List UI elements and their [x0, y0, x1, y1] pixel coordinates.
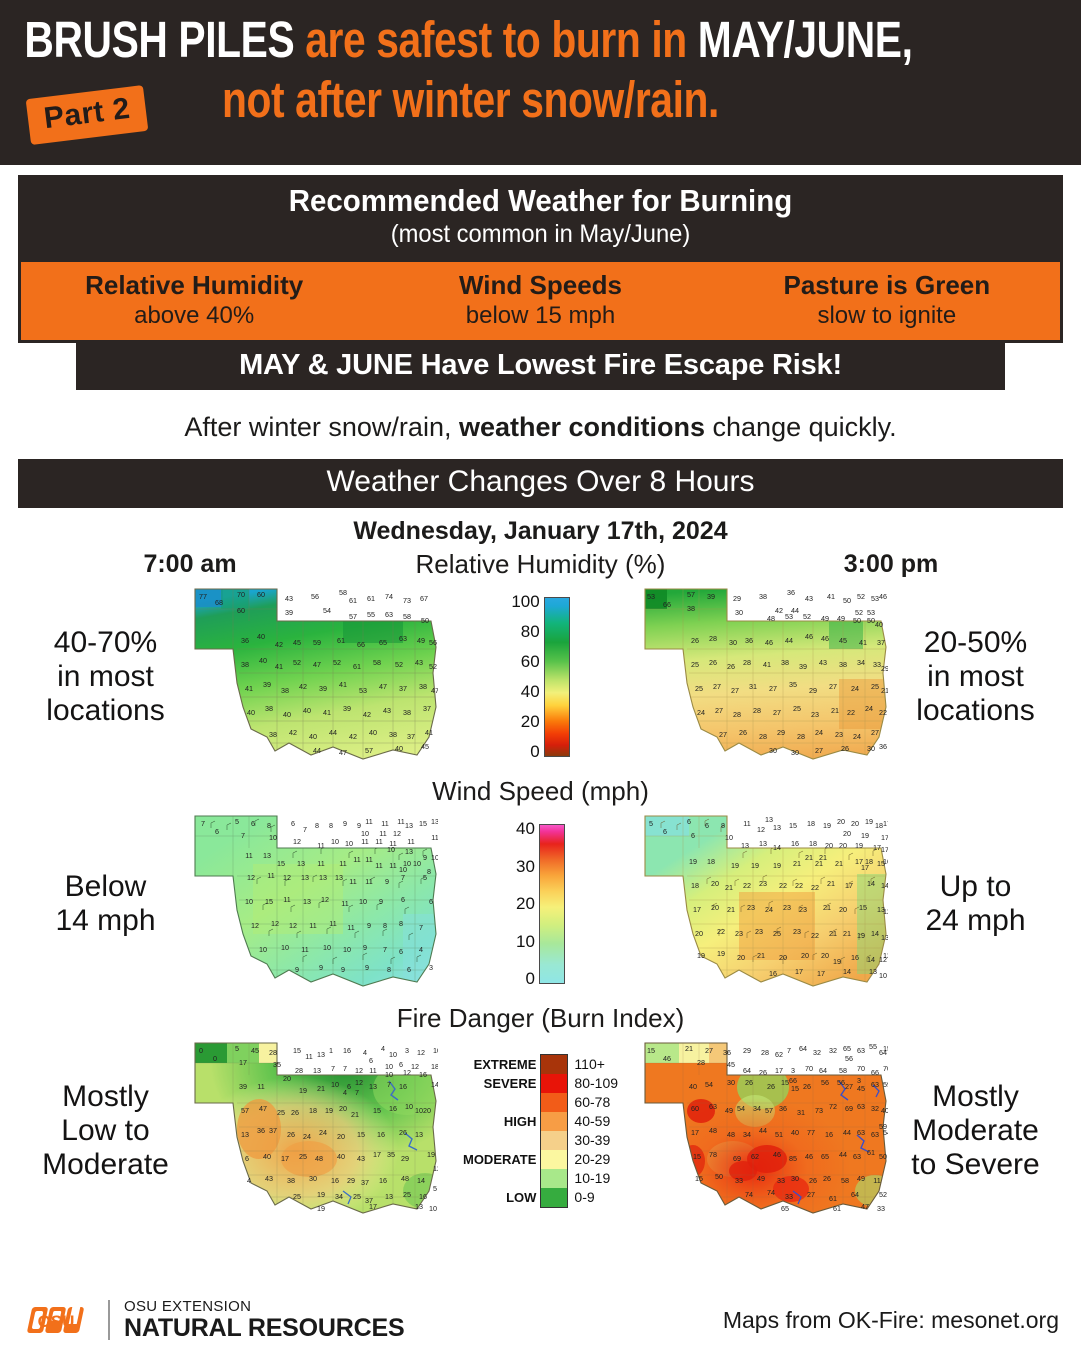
fire-swatch-60-78	[541, 1093, 567, 1112]
svg-text:7: 7	[401, 873, 405, 882]
svg-text:39: 39	[239, 1082, 247, 1091]
svg-text:64: 64	[799, 1044, 807, 1053]
svg-text:11: 11	[347, 923, 354, 932]
svg-text:62: 62	[751, 1152, 759, 1161]
svg-text:16: 16	[791, 839, 799, 848]
svg-text:61: 61	[353, 662, 361, 671]
svg-text:78: 78	[709, 1150, 717, 1159]
svg-text:29: 29	[743, 1046, 751, 1055]
label-r1: Mostly	[883, 1080, 1068, 1114]
criteria-heading: Relative Humidity	[21, 269, 367, 301]
svg-text:22: 22	[717, 927, 725, 936]
svg-text:28: 28	[759, 732, 767, 741]
svg-text:37: 37	[399, 684, 407, 693]
svg-text:10: 10	[345, 839, 353, 848]
svg-text:32: 32	[871, 1104, 879, 1113]
svg-text:28: 28	[269, 1048, 277, 1057]
svg-text:54: 54	[737, 1104, 745, 1113]
svg-text:20: 20	[801, 951, 809, 960]
fire-range-10-19: 10-19	[574, 1169, 618, 1188]
svg-text:23: 23	[759, 879, 767, 888]
fire-cat-moderate: MODERATE	[463, 1150, 536, 1169]
svg-text:11: 11	[301, 945, 308, 954]
svg-text:7: 7	[303, 825, 307, 834]
svg-text:11: 11	[283, 895, 290, 904]
svg-text:41: 41	[339, 680, 347, 689]
svg-text:12: 12	[433, 1164, 438, 1173]
svg-text:11: 11	[353, 855, 360, 864]
wind-map-afternoon-cell: 566 668 101112 131315 181920 201918 1720…	[643, 810, 1073, 998]
headline-brush-piles: BRUSH PILES	[24, 11, 305, 68]
svg-text:33: 33	[877, 1204, 885, 1213]
svg-text:47: 47	[259, 1104, 267, 1113]
svg-text:28: 28	[709, 634, 717, 643]
svg-text:13: 13	[319, 873, 327, 882]
svg-text:17: 17	[239, 1058, 247, 1067]
label-r1: Up to	[883, 870, 1068, 904]
svg-text:16: 16	[379, 1176, 387, 1185]
svg-text:24: 24	[865, 704, 873, 713]
svg-text:20: 20	[695, 929, 703, 938]
svg-text:4: 4	[381, 1044, 385, 1053]
svg-text:20: 20	[851, 819, 859, 828]
lowest-risk-banner: MAY & JUNE Have Lowest Fire Escape Risk!	[76, 343, 1005, 390]
label-l1: Below	[13, 870, 198, 904]
svg-text:10: 10	[359, 897, 367, 906]
weather-changes-bar: Weather Changes Over 8 Hours	[18, 459, 1063, 508]
fire-cat-blank-2	[463, 1131, 536, 1150]
svg-text:40: 40	[369, 728, 377, 737]
svg-text:11: 11	[245, 851, 252, 860]
criteria-value: slow to ignite	[714, 301, 1060, 331]
svg-text:61: 61	[349, 596, 357, 605]
svg-text:13: 13	[317, 1050, 325, 1059]
label-l1: 40-70%	[13, 626, 198, 660]
svg-text:19: 19	[689, 857, 697, 866]
svg-text:69: 69	[733, 1154, 741, 1163]
svg-text:58: 58	[839, 1066, 847, 1075]
svg-text:35: 35	[789, 680, 797, 689]
tick-100: 100	[511, 597, 539, 607]
svg-text:13: 13	[241, 1130, 249, 1139]
svg-text:8: 8	[315, 821, 319, 830]
svg-text:17: 17	[881, 833, 888, 842]
svg-text:11: 11	[365, 817, 372, 826]
svg-text:9: 9	[343, 819, 347, 828]
svg-text:9: 9	[365, 963, 369, 972]
svg-text:11: 11	[397, 817, 404, 826]
svg-text:46: 46	[879, 592, 887, 601]
svg-text:68: 68	[215, 598, 223, 607]
svg-text:26: 26	[823, 1174, 831, 1183]
svg-text:63: 63	[857, 1128, 865, 1137]
svg-text:30: 30	[727, 1078, 735, 1087]
fire-swatch-20-29	[541, 1150, 567, 1169]
fire-legend-ranges: 110+ 80-109 60-78 40-59 30-39 20-29 10-1…	[568, 1055, 618, 1207]
svg-text:22: 22	[811, 931, 819, 940]
footer-divider	[108, 1300, 110, 1340]
svg-text:16: 16	[331, 1176, 339, 1185]
svg-text:27: 27	[715, 706, 723, 715]
svg-text:15: 15	[859, 903, 867, 912]
svg-text:38: 38	[241, 660, 249, 669]
svg-text:3: 3	[405, 1046, 409, 1055]
svg-text:21: 21	[827, 879, 835, 888]
time-label-morning: 7:00 am	[0, 550, 380, 579]
svg-text:8: 8	[329, 821, 333, 830]
svg-text:19: 19	[751, 861, 759, 870]
svg-text:61: 61	[337, 636, 345, 645]
svg-text:19: 19	[427, 1150, 435, 1159]
criteria-value: above 40%	[21, 301, 367, 331]
svg-text:13: 13	[335, 873, 343, 882]
svg-text:31: 31	[797, 1108, 805, 1117]
svg-text:23: 23	[799, 905, 807, 914]
svg-text:16: 16	[769, 969, 777, 978]
svg-text:21: 21	[351, 1110, 359, 1119]
svg-text:21: 21	[829, 929, 837, 938]
svg-text:29: 29	[777, 728, 785, 737]
svg-text:45: 45	[293, 638, 301, 647]
svg-text:57: 57	[687, 590, 695, 599]
svg-text:50: 50	[853, 616, 861, 625]
svg-text:22: 22	[847, 708, 855, 717]
svg-text:15: 15	[791, 1084, 799, 1093]
svg-text:7: 7	[201, 819, 205, 828]
svg-text:19: 19	[773, 861, 781, 870]
svg-text:26: 26	[841, 744, 849, 753]
svg-text:21: 21	[815, 859, 823, 868]
svg-text:20: 20	[711, 879, 719, 888]
svg-text:23: 23	[735, 929, 743, 938]
transition-statement: After winter snow/rain, weather conditio…	[0, 390, 1081, 459]
svg-text:6: 6	[245, 1154, 249, 1163]
svg-text:56: 56	[837, 1078, 845, 1087]
wind-morning-label: Below 14 mph	[13, 870, 198, 938]
svg-text:18: 18	[691, 881, 699, 890]
fire-swatch-110plus	[541, 1055, 567, 1074]
svg-text:34: 34	[753, 1104, 761, 1113]
svg-text:19: 19	[731, 861, 739, 870]
svg-text:11: 11	[339, 859, 346, 868]
svg-text:8: 8	[383, 921, 387, 930]
svg-text:13: 13	[385, 1192, 393, 1201]
svg-text:15: 15	[293, 1046, 301, 1055]
svg-text:15: 15	[781, 1078, 789, 1087]
svg-text:14: 14	[417, 1176, 425, 1185]
tick-40: 40	[516, 824, 535, 834]
svg-text:7: 7	[331, 1064, 335, 1073]
svg-text:15: 15	[265, 897, 273, 906]
svg-text:39: 39	[707, 592, 715, 601]
svg-text:66: 66	[871, 1068, 879, 1077]
svg-text:17: 17	[873, 843, 881, 852]
svg-text:25: 25	[293, 1192, 301, 1201]
svg-text:11: 11	[305, 1052, 312, 1061]
svg-text:64: 64	[743, 1066, 751, 1075]
fire-danger-legend: EXTREME SEVERE HIGH MODERATE LOW	[438, 1054, 643, 1208]
humidity-colorbar-ticks: 100 80 60 40 20 0	[511, 597, 543, 757]
svg-text:15: 15	[277, 859, 285, 868]
wind-colorbar-legend: 40 30 20 10 0	[438, 824, 643, 984]
svg-text:10: 10	[405, 1102, 413, 1111]
humidity-colorbar-gradient	[544, 597, 570, 757]
svg-text:12: 12	[757, 825, 765, 834]
svg-text:39: 39	[799, 662, 807, 671]
svg-text:19: 19	[317, 1190, 325, 1199]
svg-text:11: 11	[431, 833, 438, 842]
svg-text:7: 7	[343, 1064, 347, 1073]
svg-text:27: 27	[829, 682, 837, 691]
svg-text:46: 46	[821, 634, 829, 643]
svg-text:12: 12	[411, 1062, 419, 1071]
svg-text:49: 49	[417, 636, 425, 645]
svg-text:10: 10	[725, 833, 733, 842]
variable-title-humidity: Relative Humidity (%)	[380, 549, 701, 580]
fire-map-afternoon-cell: 154621 272836 452928 62764 323265 566355…	[643, 1037, 1073, 1225]
svg-text:36: 36	[257, 1126, 265, 1135]
svg-text:10: 10	[879, 971, 887, 980]
svg-text:11: 11	[369, 1066, 376, 1075]
svg-text:9: 9	[341, 965, 345, 974]
svg-text:6: 6	[429, 897, 433, 906]
observation-date: Wednesday, January 17th, 2024	[0, 508, 1081, 549]
svg-text:16: 16	[825, 1130, 833, 1139]
label-r3: locations	[883, 694, 1068, 728]
svg-text:43: 43	[265, 1174, 273, 1183]
criteria-relative-humidity: Relative Humidity above 40%	[21, 269, 367, 331]
svg-text:20: 20	[423, 1106, 431, 1115]
fire-legend-swatches	[540, 1054, 568, 1208]
svg-text:50: 50	[715, 1172, 723, 1181]
svg-text:10: 10	[415, 1106, 423, 1115]
svg-text:25: 25	[353, 1192, 361, 1201]
svg-text:26: 26	[809, 1176, 817, 1185]
fire-swatch-80-109	[541, 1074, 567, 1093]
svg-text:26: 26	[399, 1128, 407, 1137]
criteria-heading: Pasture is Green	[714, 269, 1060, 301]
svg-text:24: 24	[853, 732, 861, 741]
svg-text:60: 60	[237, 606, 245, 615]
fire-swatch-10-19	[541, 1169, 567, 1188]
svg-text:19: 19	[717, 949, 725, 958]
fire-legend-categories: EXTREME SEVERE HIGH MODERATE LOW	[463, 1055, 540, 1207]
svg-text:11: 11	[309, 921, 316, 930]
fire-range-60-78: 60-78	[574, 1093, 618, 1112]
svg-text:38: 38	[839, 660, 847, 669]
svg-text:25: 25	[277, 1108, 285, 1117]
svg-text:6: 6	[691, 831, 695, 840]
svg-text:60: 60	[691, 1104, 699, 1113]
oklahoma-map-humidity-afternoon: 536657 383929 303836 424443 415052 53525…	[643, 587, 888, 765]
svg-text:27: 27	[871, 728, 879, 737]
svg-text:27: 27	[731, 686, 739, 695]
label-r2: in most	[883, 660, 1068, 694]
svg-text:25: 25	[403, 1190, 411, 1199]
svg-text:40: 40	[283, 710, 291, 719]
svg-text:25: 25	[691, 660, 699, 669]
svg-text:61: 61	[833, 1204, 841, 1213]
svg-text:38: 38	[281, 686, 289, 695]
svg-text:13: 13	[415, 1202, 423, 1211]
svg-text:40: 40	[395, 744, 403, 753]
svg-text:32: 32	[829, 1046, 837, 1055]
svg-text:11: 11	[375, 861, 382, 870]
svg-text:17: 17	[693, 905, 701, 914]
svg-text:18: 18	[875, 821, 883, 830]
svg-text:9: 9	[423, 853, 427, 862]
svg-text:13: 13	[405, 847, 413, 856]
svg-text:29: 29	[733, 594, 741, 603]
label-r2: Moderate	[883, 1114, 1068, 1148]
svg-text:12: 12	[293, 837, 301, 846]
svg-text:11: 11	[341, 899, 348, 908]
svg-text:17: 17	[883, 819, 888, 828]
svg-text:20: 20	[825, 841, 833, 850]
svg-text:9: 9	[379, 897, 383, 906]
svg-text:12: 12	[403, 1068, 411, 1077]
svg-text:19: 19	[855, 841, 863, 850]
svg-text:50: 50	[843, 596, 851, 605]
svg-text:16: 16	[377, 1130, 385, 1139]
svg-text:49: 49	[725, 1106, 733, 1115]
svg-text:27: 27	[807, 1190, 815, 1199]
svg-text:64: 64	[819, 1066, 827, 1075]
svg-text:46: 46	[663, 1054, 671, 1063]
svg-text:50: 50	[421, 616, 429, 625]
humidity-map-row: 40-70% in most locations	[0, 582, 1081, 772]
svg-text:74: 74	[767, 1188, 775, 1197]
svg-text:21: 21	[793, 859, 801, 868]
svg-text:42: 42	[349, 732, 357, 741]
svg-text:15: 15	[357, 1130, 365, 1139]
svg-text:10: 10	[281, 943, 289, 952]
label-l3: locations	[13, 694, 198, 728]
svg-text:13: 13	[303, 897, 311, 906]
svg-text:38: 38	[419, 682, 427, 691]
svg-text:44: 44	[839, 1150, 847, 1159]
svg-text:30: 30	[769, 746, 777, 755]
svg-text:28: 28	[761, 1048, 769, 1057]
svg-text:37: 37	[423, 704, 431, 713]
svg-text:12: 12	[355, 1066, 363, 1075]
svg-text:15: 15	[419, 819, 427, 828]
svg-text:70: 70	[237, 590, 245, 599]
criteria-pasture-green: Pasture is Green slow to ignite	[714, 269, 1060, 331]
row1-time-headers: 7:00 am Relative Humidity (%) 3:00 pm	[0, 549, 1081, 582]
svg-text:39: 39	[343, 704, 351, 713]
svg-text:27: 27	[719, 730, 727, 739]
svg-text:20: 20	[821, 951, 829, 960]
svg-text:8: 8	[427, 867, 431, 876]
svg-text:48: 48	[709, 1126, 717, 1135]
svg-text:11: 11	[873, 1176, 880, 1185]
svg-text:8: 8	[267, 821, 271, 830]
svg-text:57: 57	[349, 612, 357, 621]
svg-text:16: 16	[883, 857, 888, 866]
criteria-heading: Wind Speeds	[367, 269, 713, 301]
svg-text:22: 22	[811, 883, 819, 892]
svg-text:29: 29	[809, 686, 817, 695]
svg-text:48: 48	[727, 1130, 735, 1139]
svg-text:34: 34	[857, 658, 865, 667]
svg-text:23: 23	[755, 927, 763, 936]
svg-text:20: 20	[837, 817, 845, 826]
svg-text:11: 11	[317, 841, 324, 850]
svg-text:37: 37	[361, 1178, 369, 1187]
svg-text:14: 14	[843, 967, 851, 976]
svg-text:0: 0	[213, 1054, 217, 1063]
svg-text:7: 7	[387, 1080, 391, 1089]
svg-text:6: 6	[291, 819, 295, 828]
svg-text:22: 22	[743, 881, 751, 890]
svg-text:47: 47	[431, 686, 438, 695]
svg-text:47: 47	[861, 1202, 869, 1211]
fire-afternoon-label: Mostly Moderate to Severe	[883, 1080, 1068, 1182]
svg-text:29: 29	[401, 1154, 409, 1163]
svg-text:42: 42	[363, 710, 371, 719]
svg-text:16: 16	[851, 953, 859, 962]
svg-text:27: 27	[773, 708, 781, 717]
svg-text:33: 33	[785, 1192, 793, 1201]
criteria-value: below 15 mph	[367, 301, 713, 331]
svg-text:9: 9	[319, 963, 323, 972]
svg-text:36: 36	[745, 636, 753, 645]
tick-80: 80	[521, 627, 540, 637]
svg-text:63: 63	[399, 634, 407, 643]
svg-text:26: 26	[759, 1068, 767, 1077]
svg-text:6: 6	[663, 827, 667, 836]
svg-text:27: 27	[769, 684, 777, 693]
svg-text:21: 21	[727, 905, 735, 914]
svg-text:25: 25	[695, 684, 703, 693]
svg-text:5: 5	[649, 819, 653, 828]
svg-text:13: 13	[297, 859, 305, 868]
svg-text:13: 13	[765, 815, 773, 824]
svg-text:25: 25	[773, 929, 781, 938]
svg-text:10: 10	[413, 859, 421, 868]
svg-text:67: 67	[420, 594, 428, 603]
label-r3: to Severe	[883, 1148, 1068, 1182]
svg-text:41: 41	[827, 592, 835, 601]
svg-text:43: 43	[383, 706, 391, 715]
svg-text:11: 11	[375, 837, 382, 846]
svg-text:4: 4	[363, 1048, 367, 1057]
svg-text:52: 52	[879, 1190, 887, 1199]
svg-text:6: 6	[369, 1056, 373, 1065]
svg-text:13: 13	[773, 823, 781, 832]
svg-text:12: 12	[393, 829, 401, 838]
svg-text:14: 14	[431, 1080, 438, 1089]
footer-bar: OSU OSU EXTENSION NATURAL RESOURCES Maps…	[0, 1289, 1081, 1351]
svg-text:17: 17	[775, 1066, 783, 1075]
svg-text:10: 10	[433, 1046, 438, 1055]
svg-text:10: 10	[429, 1204, 437, 1213]
svg-text:26: 26	[709, 658, 717, 667]
svg-text:77: 77	[807, 1128, 815, 1137]
svg-text:17: 17	[691, 1128, 699, 1137]
svg-text:20: 20	[339, 1104, 347, 1113]
criteria-wind-speeds: Wind Speeds below 15 mph	[367, 269, 713, 331]
svg-text:20: 20	[711, 903, 719, 912]
svg-text:44: 44	[785, 636, 793, 645]
svg-text:42: 42	[775, 606, 783, 615]
svg-text:41: 41	[245, 684, 253, 693]
svg-text:44: 44	[313, 746, 321, 755]
svg-text:4: 4	[343, 1088, 347, 1097]
svg-text:10: 10	[245, 897, 253, 906]
svg-text:26: 26	[803, 1082, 811, 1091]
